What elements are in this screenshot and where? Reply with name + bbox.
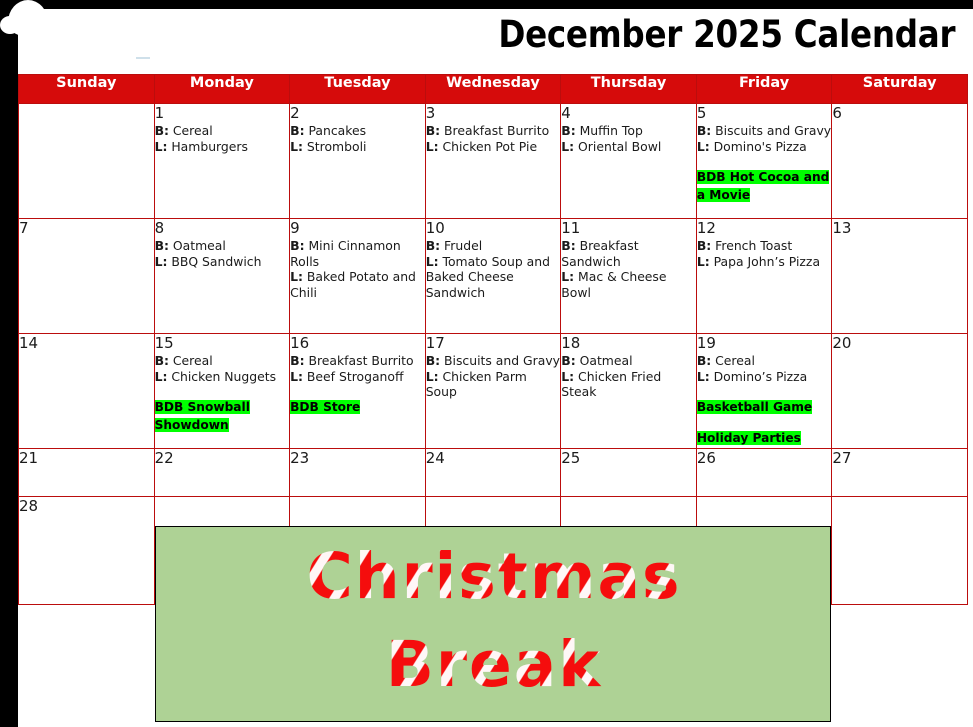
lunch-menu: L: Tomato Soup and Baked Cheese Sandwich <box>426 254 561 301</box>
lunch-prefix: L: <box>426 139 439 154</box>
breakfast-prefix: B: <box>290 238 304 253</box>
lunch-menu: L: Chicken Parm Soup <box>426 369 561 400</box>
day-number: 15 <box>155 334 290 352</box>
lunch-menu: L: Baked Potato and Chili <box>290 269 425 300</box>
breakfast-menu: B: French Toast <box>697 238 832 254</box>
snow-decoration-small-icon <box>0 16 20 34</box>
calendar-header-row: Sunday Monday Tuesday Wednesday Thursday… <box>19 75 968 104</box>
lunch-item: Domino's Pizza <box>710 139 807 154</box>
calendar-day-cell[interactable]: 8B: OatmealL: BBQ Sandwich <box>154 219 290 334</box>
day-number: 26 <box>697 449 832 467</box>
lunch-item: Stromboli <box>303 139 366 154</box>
breakfast-prefix: B: <box>290 353 304 368</box>
breakfast-item: Biscuits and Gravy <box>711 123 831 138</box>
event-badge[interactable]: BDB Snowball Showdown <box>155 400 250 432</box>
calendar-day-cell[interactable]: 23 <box>290 449 426 497</box>
lunch-menu: L: Chicken Nuggets <box>155 369 290 385</box>
calendar-day-cell[interactable]: 6 <box>832 104 968 219</box>
breakfast-prefix: B: <box>426 353 440 368</box>
lunch-menu: L: Stromboli <box>290 139 425 155</box>
lunch-menu: L: Beef Stroganoff <box>290 369 425 385</box>
lunch-item: Chicken Pot Pie <box>439 139 538 154</box>
calendar-day-cell[interactable]: 19B: CerealL: Domino’s PizzaBasketball G… <box>696 334 832 449</box>
breakfast-item: Breakfast Burrito <box>305 353 414 368</box>
christmas-break-line-2: Break <box>156 621 831 709</box>
breakfast-menu: B: Cereal <box>155 123 290 139</box>
weekday-header-monday: Monday <box>154 75 290 104</box>
page-title: December 2025 Calendar <box>498 12 955 58</box>
calendar-day-cell[interactable]: 16B: Breakfast BurritoL: Beef Stroganoff… <box>290 334 426 449</box>
christmas-break-text: Christmas Break <box>156 533 831 709</box>
lunch-menu: L: Papa John’s Pizza <box>697 254 832 270</box>
event-row: Basketball Game <box>697 398 832 416</box>
calendar-day-cell[interactable]: 21 <box>19 449 155 497</box>
breakfast-prefix: B: <box>155 123 169 138</box>
event-badge[interactable]: Basketball Game <box>697 400 812 414</box>
breakfast-prefix: B: <box>697 353 711 368</box>
event-list: BDB Hot Cocoa and a Movie <box>697 168 832 204</box>
event-badge[interactable]: Holiday Parties <box>697 431 801 445</box>
day-number: 1 <box>155 104 290 122</box>
lunch-prefix: L: <box>561 139 574 154</box>
weekday-header-saturday: Saturday <box>832 75 968 104</box>
calendar-day-cell[interactable]: 25 <box>561 449 697 497</box>
weekday-header-tuesday: Tuesday <box>290 75 426 104</box>
event-badge[interactable]: BDB Hot Cocoa and a Movie <box>697 170 830 202</box>
breakfast-item: Mini Cinnamon Rolls <box>290 238 401 269</box>
day-number: 28 <box>19 497 154 515</box>
calendar-week-row: 78B: OatmealL: BBQ Sandwich9B: Mini Cinn… <box>19 219 968 334</box>
breakfast-item: Frudel <box>440 238 482 253</box>
christmas-break-line-1: Christmas <box>156 533 831 621</box>
calendar-day-cell[interactable]: 7 <box>19 219 155 334</box>
calendar-empty-cell <box>832 497 968 605</box>
breakfast-prefix: B: <box>426 123 440 138</box>
day-number: 9 <box>290 219 425 237</box>
day-number: 13 <box>832 219 967 237</box>
lunch-item: Mac & Cheese Bowl <box>561 269 666 300</box>
calendar-day-cell[interactable]: 14 <box>19 334 155 449</box>
lunch-prefix: L: <box>155 254 168 269</box>
lunch-menu: L: Domino’s Pizza <box>697 369 832 385</box>
breakfast-menu: B: Biscuits and Gravy <box>697 123 832 139</box>
lunch-item: Hamburgers <box>167 139 248 154</box>
calendar-day-cell[interactable]: 2B: PancakesL: Stromboli <box>290 104 426 219</box>
day-number: 7 <box>19 219 154 237</box>
lunch-prefix: L: <box>561 369 574 384</box>
day-number: 11 <box>561 219 696 237</box>
breakfast-prefix: B: <box>697 123 711 138</box>
breakfast-item: Muffin Top <box>576 123 643 138</box>
calendar-day-cell[interactable]: 1B: CerealL: Hamburgers <box>154 104 290 219</box>
day-number: 23 <box>290 449 425 467</box>
lunch-prefix: L: <box>290 139 303 154</box>
calendar-day-cell[interactable]: 26 <box>696 449 832 497</box>
lunch-prefix: L: <box>290 269 303 284</box>
day-number: 19 <box>697 334 832 352</box>
day-number: 17 <box>426 334 561 352</box>
breakfast-menu: B: Mini Cinnamon Rolls <box>290 238 425 269</box>
day-number: 10 <box>426 219 561 237</box>
breakfast-item: Oatmeal <box>576 353 633 368</box>
lunch-prefix: L: <box>697 254 710 269</box>
day-number: 22 <box>155 449 290 467</box>
day-number: 12 <box>697 219 832 237</box>
breakfast-menu: B: Muffin Top <box>561 123 696 139</box>
calendar-day-cell[interactable]: 12B: French ToastL: Papa John’s Pizza <box>696 219 832 334</box>
day-number: 16 <box>290 334 425 352</box>
weekday-header-thursday: Thursday <box>561 75 697 104</box>
day-number: 25 <box>561 449 696 467</box>
event-list: BDB Store <box>290 398 425 416</box>
calendar-day-cell[interactable]: 9B: Mini Cinnamon RollsL: Baked Potato a… <box>290 219 426 334</box>
day-number: 3 <box>426 104 561 122</box>
calendar-empty-cell <box>19 104 155 219</box>
calendar-day-cell[interactable]: 22 <box>154 449 290 497</box>
breakfast-prefix: B: <box>561 238 575 253</box>
breakfast-menu: B: Cereal <box>697 353 832 369</box>
event-list: Basketball GameHoliday Parties <box>697 398 832 447</box>
lunch-menu: L: Oriental Bowl <box>561 139 696 155</box>
event-row: Holiday Parties <box>697 429 832 447</box>
calendar-day-cell[interactable]: 20 <box>832 334 968 449</box>
breakfast-item: Breakfast Burrito <box>440 123 549 138</box>
breakfast-menu: B: Frudel <box>426 238 561 254</box>
decorative-tick <box>136 57 150 59</box>
day-number: 6 <box>832 104 967 122</box>
lunch-item: Oriental Bowl <box>574 139 661 154</box>
breakfast-menu: B: Breakfast Burrito <box>426 123 561 139</box>
lunch-item: Chicken Nuggets <box>167 369 276 384</box>
breakfast-item: French Toast <box>711 238 792 253</box>
calendar-week-row: 1415B: CerealL: Chicken NuggetsBDB Snowb… <box>19 334 968 449</box>
breakfast-prefix: B: <box>561 353 575 368</box>
calendar-day-cell[interactable]: 11B: Breakfast SandwichL: Mac & Cheese B… <box>561 219 697 334</box>
calendar-day-cell[interactable]: 5B: Biscuits and GravyL: Domino's PizzaB… <box>696 104 832 219</box>
lunch-menu: L: Mac & Cheese Bowl <box>561 269 696 300</box>
day-number: 2 <box>290 104 425 122</box>
breakfast-prefix: B: <box>426 238 440 253</box>
breakfast-menu: B: Pancakes <box>290 123 425 139</box>
decorative-left-band <box>0 0 18 727</box>
event-row: BDB Snowball Showdown <box>155 398 290 434</box>
day-number: 5 <box>697 104 832 122</box>
calendar-day-cell[interactable]: 27 <box>832 449 968 497</box>
calendar-day-cell[interactable]: 13 <box>832 219 968 334</box>
breakfast-menu: B: Breakfast Sandwich <box>561 238 696 269</box>
day-number: 14 <box>19 334 154 352</box>
lunch-menu: L: BBQ Sandwich <box>155 254 290 270</box>
day-number: 27 <box>832 449 967 467</box>
breakfast-prefix: B: <box>155 238 169 253</box>
lunch-item: Domino’s Pizza <box>710 369 808 384</box>
day-number: 4 <box>561 104 696 122</box>
breakfast-item: Pancakes <box>305 123 367 138</box>
lunch-menu: L: Chicken Pot Pie <box>426 139 561 155</box>
day-number: 24 <box>426 449 561 467</box>
decorative-top-band <box>0 0 973 9</box>
lunch-item: Tomato Soup and Baked Cheese Sandwich <box>426 254 550 300</box>
lunch-menu: L: Chicken Fried Steak <box>561 369 696 400</box>
calendar-week-row: 1B: CerealL: Hamburgers2B: PancakesL: St… <box>19 104 968 219</box>
lunch-prefix: L: <box>561 269 574 284</box>
calendar-day-cell[interactable]: 4B: Muffin TopL: Oriental Bowl <box>561 104 697 219</box>
calendar-day-cell[interactable]: 15B: CerealL: Chicken NuggetsBDB Snowbal… <box>154 334 290 449</box>
lunch-menu: L: Hamburgers <box>155 139 290 155</box>
weekday-header-wednesday: Wednesday <box>425 75 561 104</box>
event-list: BDB Snowball Showdown <box>155 398 290 434</box>
lunch-item: Chicken Parm Soup <box>426 369 527 400</box>
breakfast-prefix: B: <box>697 238 711 253</box>
lunch-prefix: L: <box>697 369 710 384</box>
calendar-day-cell[interactable]: 24 <box>425 449 561 497</box>
lunch-item: BBQ Sandwich <box>167 254 261 269</box>
lunch-prefix: L: <box>155 139 168 154</box>
breakfast-item: Cereal <box>711 353 755 368</box>
lunch-prefix: L: <box>155 369 168 384</box>
lunch-menu: L: Domino's Pizza <box>697 139 832 155</box>
breakfast-menu: B: Oatmeal <box>561 353 696 369</box>
breakfast-menu: B: Biscuits and Gravy <box>426 353 561 369</box>
weekday-header-sunday: Sunday <box>19 75 155 104</box>
christmas-break-banner: Christmas Break <box>155 526 831 722</box>
lunch-prefix: L: <box>290 369 303 384</box>
calendar-week-row: 21222324252627 <box>19 449 968 497</box>
breakfast-prefix: B: <box>290 123 304 138</box>
event-row: BDB Hot Cocoa and a Movie <box>697 168 832 204</box>
breakfast-prefix: B: <box>155 353 169 368</box>
lunch-item: Baked Potato and Chili <box>290 269 416 300</box>
calendar-day-cell[interactable]: 18B: OatmealL: Chicken Fried Steak <box>561 334 697 449</box>
calendar-day-cell[interactable]: 3B: Breakfast BurritoL: Chicken Pot Pie <box>425 104 561 219</box>
breakfast-item: Cereal <box>169 123 213 138</box>
day-number: 20 <box>832 334 967 352</box>
breakfast-item: Oatmeal <box>169 238 226 253</box>
lunch-prefix: L: <box>426 254 439 269</box>
lunch-item: Papa John’s Pizza <box>710 254 820 269</box>
event-row: BDB Store <box>290 398 425 416</box>
lunch-prefix: L: <box>426 369 439 384</box>
lunch-item: Chicken Fried Steak <box>561 369 661 400</box>
calendar-day-cell[interactable]: 28 <box>19 497 155 605</box>
calendar-day-cell[interactable]: 17B: Biscuits and GravyL: Chicken Parm S… <box>425 334 561 449</box>
calendar-day-cell[interactable]: 10B: FrudelL: Tomato Soup and Baked Chee… <box>425 219 561 334</box>
day-number: 21 <box>19 449 154 467</box>
breakfast-menu: B: Oatmeal <box>155 238 290 254</box>
lunch-item: Beef Stroganoff <box>303 369 404 384</box>
breakfast-menu: B: Breakfast Burrito <box>290 353 425 369</box>
day-number: 18 <box>561 334 696 352</box>
breakfast-menu: B: Cereal <box>155 353 290 369</box>
breakfast-item: Cereal <box>169 353 213 368</box>
weekday-header-friday: Friday <box>696 75 832 104</box>
breakfast-item: Biscuits and Gravy <box>440 353 560 368</box>
event-badge[interactable]: BDB Store <box>290 400 360 414</box>
lunch-prefix: L: <box>697 139 710 154</box>
breakfast-prefix: B: <box>561 123 575 138</box>
day-number: 8 <box>155 219 290 237</box>
